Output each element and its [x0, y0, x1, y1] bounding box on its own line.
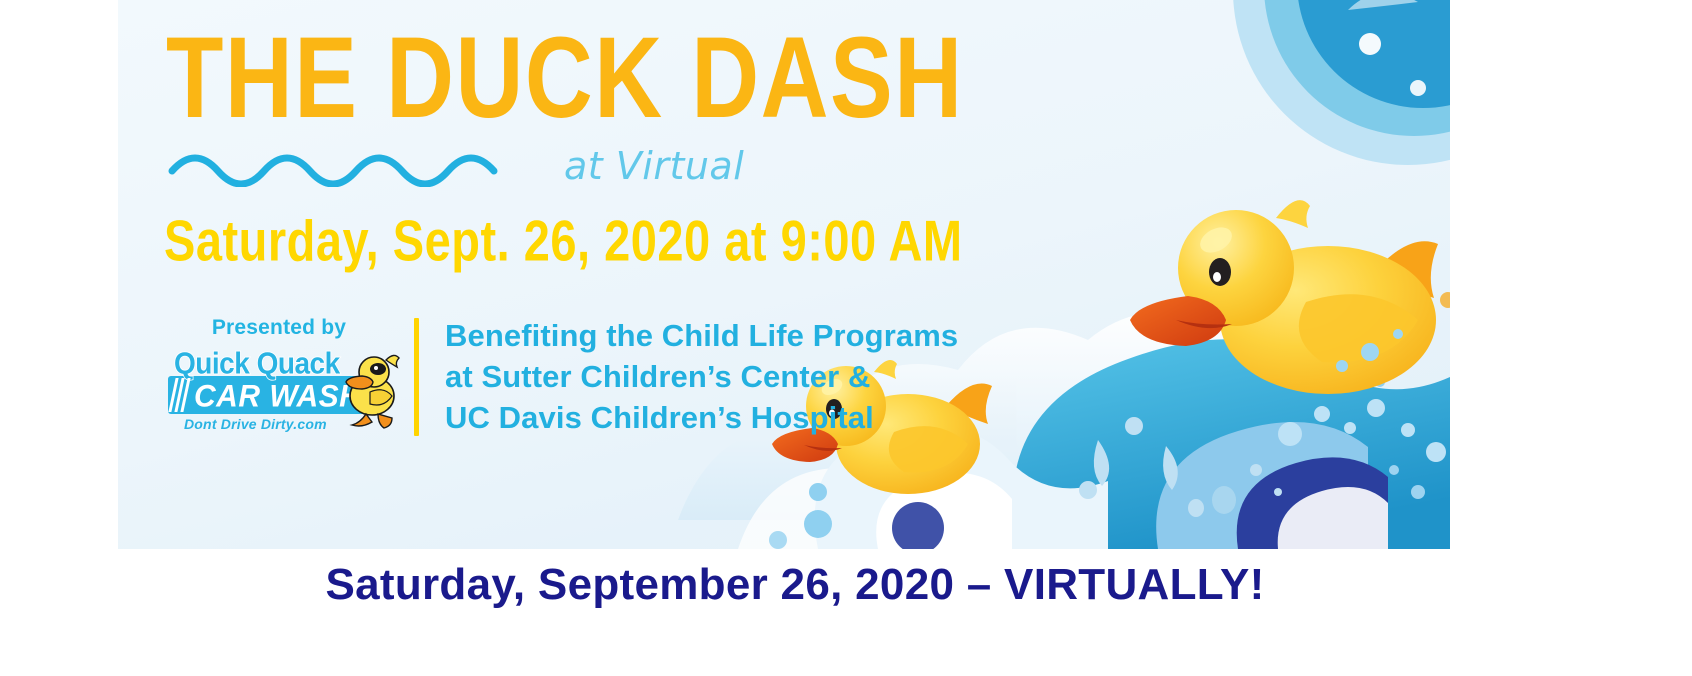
sponsor-name-bottom: CAR WASH — [194, 379, 361, 415]
event-date-time: Saturday, Sept. 26, 2020 at 9:00 AM — [164, 207, 963, 274]
sponsor-stripes-icon — [172, 378, 188, 412]
beneficiary-section: Benefiting the Child Life Programs at Su… — [445, 308, 958, 439]
quick-quack-duck-icon — [342, 352, 404, 430]
event-caption: Saturday, September 26, 2020 – VIRTUALLY… — [0, 560, 1590, 610]
event-banner: THE DUCK DASH at Virtual Saturday, Sept.… — [118, 0, 1450, 549]
page-root: THE DUCK DASH at Virtual Saturday, Sept.… — [0, 0, 1692, 676]
wave-squiggle-icon — [168, 145, 540, 187]
subtitle-row: at Virtual — [168, 136, 744, 196]
corner-wave-decoration — [1233, 0, 1450, 165]
beneficiary-line-1: Benefiting the Child Life Programs — [445, 316, 958, 357]
beneficiary-line-3: UC Davis Children’s Hospital — [445, 398, 958, 439]
sponsor-logo: Quick Quack CAR WASH Dont Drive Dirty.co… — [168, 346, 390, 434]
teal-wave — [1013, 339, 1450, 549]
presenter-section: Presented by Quick Quack CAR WASH Dont D… — [164, 308, 394, 434]
subtitle-text: at Virtual — [564, 144, 744, 188]
sponsor-name-top: Quick Quack — [174, 346, 340, 381]
beneficiary-line-2: at Sutter Children’s Center & — [445, 357, 958, 398]
sponsor-tagline: Dont Drive Dirty.com — [184, 416, 327, 432]
left-wave — [815, 426, 1108, 549]
info-block: Presented by Quick Quack CAR WASH Dont D… — [164, 308, 958, 439]
vertical-divider — [414, 318, 419, 436]
page-title: THE DUCK DASH — [166, 18, 964, 138]
rubber-duck-large — [1130, 200, 1438, 394]
splash-droplets — [1079, 417, 1282, 517]
presented-by-label: Presented by — [164, 316, 394, 340]
